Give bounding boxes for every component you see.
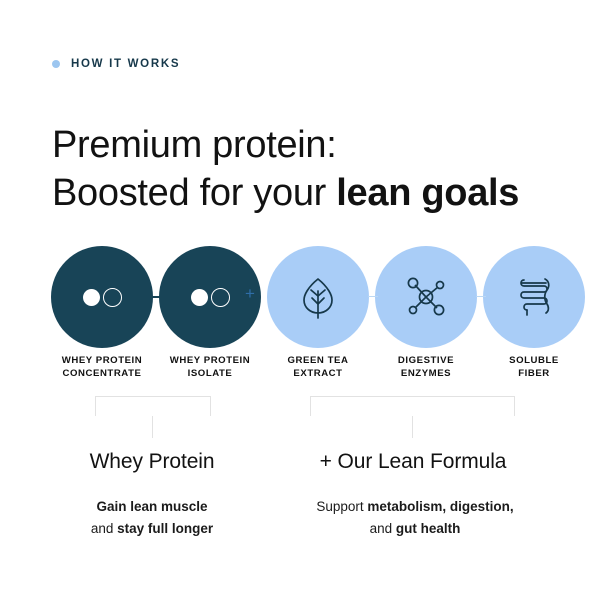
caption-line-2: ISOLATE	[188, 368, 233, 379]
desc-regular-2: and	[370, 521, 396, 536]
caption-line-1: WHEY PROTEIN	[170, 355, 251, 366]
caption-line-1: SOLUBLE	[509, 355, 559, 366]
caption-line-2: CONCENTRATE	[63, 368, 142, 379]
caption-line-1: GREEN TEA	[288, 355, 349, 366]
plus-symbol: +	[245, 285, 255, 302]
bullet-dot-icon	[52, 60, 60, 68]
ingredient-node-soluble-fiber	[483, 246, 585, 348]
headline-line-2-regular: Boosted for your	[52, 172, 336, 214]
caption-line-1: DIGESTIVE	[398, 355, 454, 366]
connector-line-light-1	[368, 296, 378, 297]
eyebrow: HOW IT WORKS	[52, 58, 180, 70]
eyebrow-label: HOW IT WORKS	[71, 58, 180, 70]
caption-line-2: EXTRACT	[293, 368, 342, 379]
desc-bold-2: stay full longer	[117, 521, 213, 536]
whey-dots-icon	[83, 288, 122, 307]
ingredient-caption: GREEN TEA EXTRACT	[258, 354, 378, 380]
caption-line-1: WHEY PROTEIN	[62, 355, 143, 366]
ingredient-caption: DIGESTIVE ENZYMES	[366, 354, 486, 380]
ingredient-node-digestive-enzymes	[375, 246, 477, 348]
connector-line-light-2	[476, 296, 486, 297]
desc-bold-1: Gain lean muscle	[96, 499, 207, 514]
group-title-lean-formula: + Our Lean Formula	[283, 450, 543, 474]
ingredient-caption: SOLUBLE FIBER	[474, 354, 594, 380]
connector-line-dark	[152, 296, 161, 298]
desc-regular-1: Support	[316, 499, 367, 514]
headline-line-2-bold: lean goals	[336, 172, 519, 214]
ingredient-strip	[0, 246, 600, 348]
desc-bold-2: gut health	[396, 521, 461, 536]
headline-line-1: Premium protein:	[52, 124, 337, 166]
page-title: Premium protein: Boosted for your lean g…	[52, 122, 572, 218]
ingredient-caption: WHEY PROTEIN CONCENTRATE	[42, 354, 162, 380]
ingredient-node-whey-protein-concentrate	[51, 246, 153, 348]
group-description-lean-formula: Support metabolism, digestion, and gut h…	[281, 496, 549, 540]
ingredient-node-green-tea-extract	[267, 246, 369, 348]
intestine-icon	[513, 274, 555, 320]
desc-regular-1: and	[91, 521, 117, 536]
caption-line-2: ENZYMES	[401, 368, 451, 379]
leaf-icon	[298, 275, 338, 319]
whey-dots-icon	[191, 288, 230, 307]
group-bracket-right	[310, 396, 515, 416]
desc-bold-1: metabolism, digestion,	[367, 499, 513, 514]
group-description-whey-protein: Gain lean muscle and stay full longer	[18, 496, 286, 540]
group-title-whey-protein: Whey Protein	[22, 450, 282, 474]
ingredient-caption: WHEY PROTEIN ISOLATE	[150, 354, 270, 380]
molecule-icon	[403, 275, 449, 319]
group-bracket-stem-right	[412, 416, 413, 438]
group-bracket-stem-left	[152, 416, 153, 438]
group-bracket-left	[95, 396, 211, 416]
caption-line-2: FIBER	[518, 368, 550, 379]
